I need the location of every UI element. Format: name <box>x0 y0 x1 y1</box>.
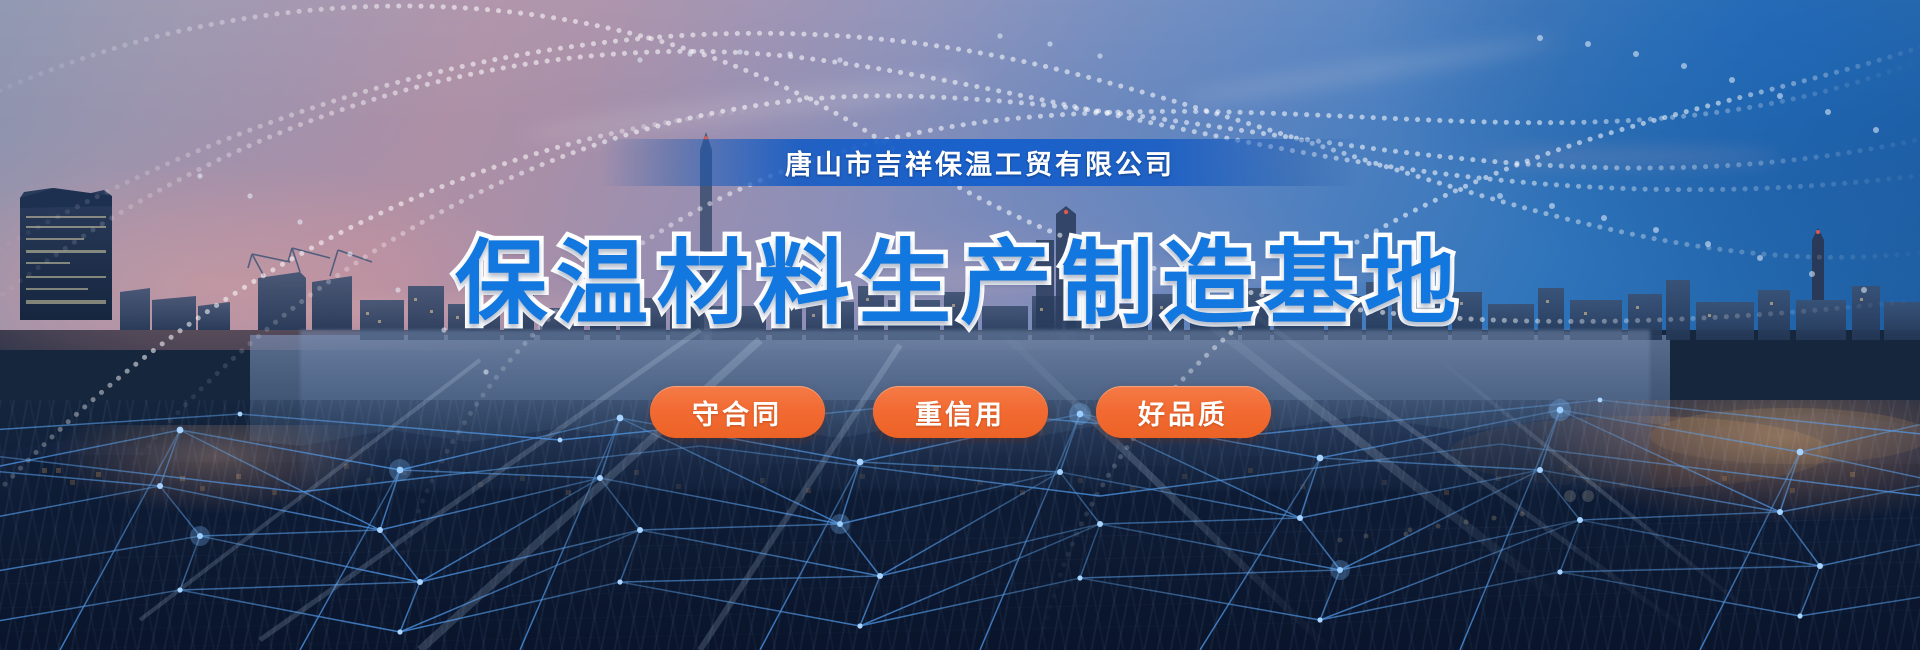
pill-hao-pin-zhi[interactable]: 好品质 <box>1096 386 1271 438</box>
banner-content: 唐山市吉祥保温工贸有限公司 保温材料生产制造基地 守合同 重信用 好品质 <box>0 0 1920 650</box>
pill-label: 好品质 <box>1138 393 1228 432</box>
company-name: 唐山市吉祥保温工贸有限公司 <box>785 143 1175 182</box>
page-title: 保温材料生产制造基地 <box>0 238 1920 330</box>
pill-zhong-xin-yong[interactable]: 重信用 <box>873 386 1048 438</box>
pill-shou-he-tong[interactable]: 守合同 <box>650 386 825 438</box>
hero-banner: 唐山市吉祥保温工贸有限公司 保温材料生产制造基地 守合同 重信用 好品质 <box>0 0 1920 650</box>
feature-pill-group: 守合同 重信用 好品质 <box>0 386 1920 438</box>
pill-label: 守合同 <box>692 393 782 432</box>
pill-label: 重信用 <box>915 393 1005 432</box>
company-name-bar: 唐山市吉祥保温工贸有限公司 <box>600 139 1360 186</box>
